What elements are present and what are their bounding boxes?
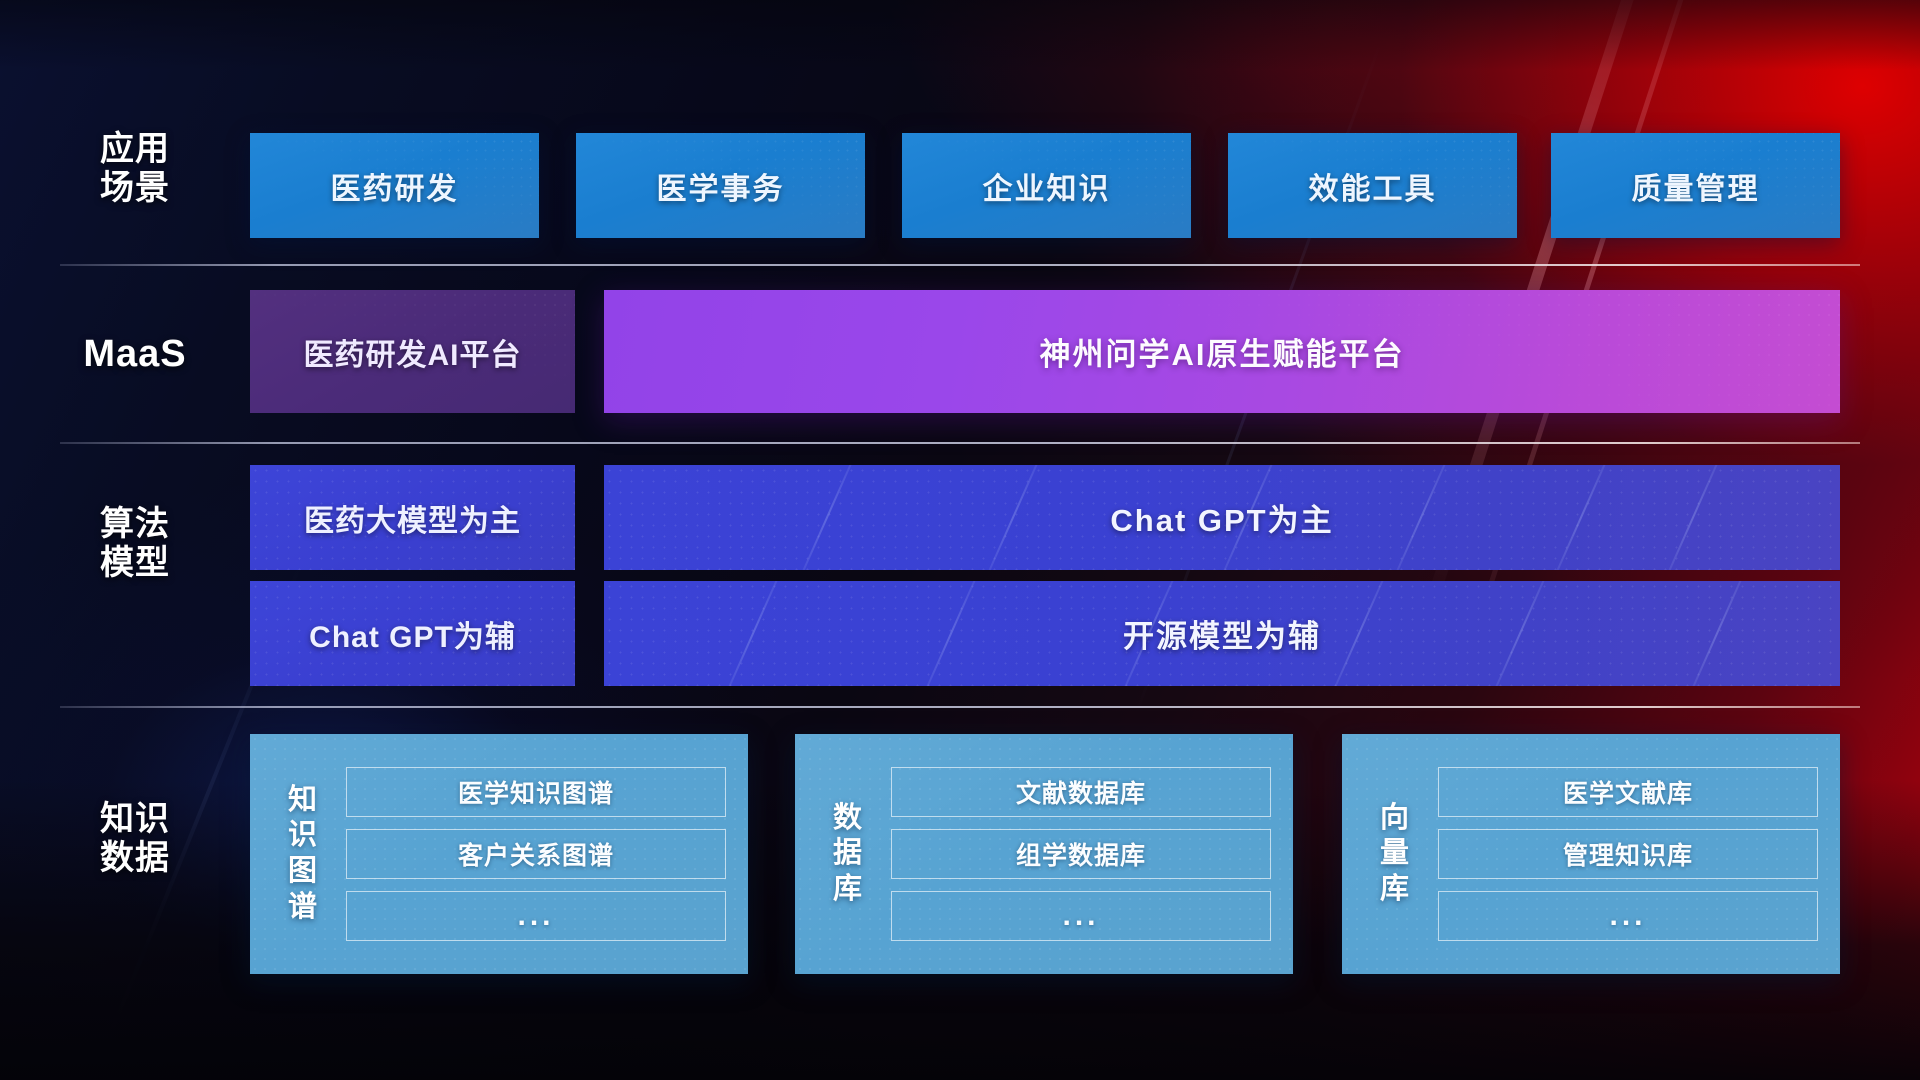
row-label-line: 数据 xyxy=(60,839,210,878)
knowledge-item[interactable]: 医学知识图谱 xyxy=(346,767,726,817)
maas-platform-box-drug-rd[interactable]: 医药研发AI平台 xyxy=(250,290,575,413)
row-label-line: 场景 xyxy=(60,169,210,208)
algo-box-line2-right[interactable]: 开源模型为辅 xyxy=(604,581,1840,686)
knowledge-card-vertical-label: 知识图谱 xyxy=(266,783,340,926)
row-label-maas: MaaS xyxy=(60,332,210,376)
knowledge-card-vector-store[interactable]: 向量库 医学文献库 管理知识库 ... xyxy=(1342,734,1840,974)
app-scenario-box-3[interactable]: 企业知识 xyxy=(902,133,1191,238)
knowledge-item-more[interactable]: ... xyxy=(891,891,1271,941)
app-scenario-box-1[interactable]: 医药研发 xyxy=(250,133,539,238)
app-scenario-label: 医药研发 xyxy=(331,164,459,208)
row-label-knowledge-data: 知识 数据 xyxy=(60,800,210,879)
divider-1 xyxy=(60,264,1860,266)
row-label-line: 知识 xyxy=(60,800,210,839)
knowledge-card-items: 文献数据库 组学数据库 ... xyxy=(885,767,1293,941)
algo-label: 医药大模型为主 xyxy=(304,496,521,540)
knowledge-item[interactable]: 客户关系图谱 xyxy=(346,829,726,879)
row-label-line: MaaS xyxy=(60,332,210,376)
knowledge-item-more[interactable]: ... xyxy=(346,891,726,941)
knowledge-item[interactable]: 管理知识库 xyxy=(1438,829,1818,879)
algo-label: Chat GPT为辅 xyxy=(309,612,516,656)
app-scenario-box-5[interactable]: 质量管理 xyxy=(1551,133,1840,238)
app-scenario-label: 效能工具 xyxy=(1309,164,1437,208)
algo-label: Chat GPT为主 xyxy=(1110,495,1333,540)
row-label-line: 模型 xyxy=(60,544,210,583)
row-label-algorithm-models: 算法 模型 xyxy=(60,505,210,584)
knowledge-card-items: 医学文献库 管理知识库 ... xyxy=(1432,767,1840,941)
architecture-diagram: 应用 场景 医药研发 医学事务 企业知识 效能工具 质量管理 MaaS 医药研发… xyxy=(0,0,1920,1080)
algo-label: 开源模型为辅 xyxy=(1123,611,1321,656)
knowledge-card-vertical-label: 数据库 xyxy=(811,801,885,908)
app-scenario-label: 医学事务 xyxy=(657,164,785,208)
app-scenario-label: 质量管理 xyxy=(1632,164,1760,208)
knowledge-item[interactable]: 文献数据库 xyxy=(891,767,1271,817)
maas-left-label: 医药研发AI平台 xyxy=(304,330,522,374)
knowledge-item-more[interactable]: ... xyxy=(1438,891,1818,941)
app-scenario-label: 企业知识 xyxy=(983,164,1111,208)
app-scenario-box-4[interactable]: 效能工具 xyxy=(1228,133,1517,238)
maas-right-label: 神州问学AI原生赋能平台 xyxy=(1040,329,1405,374)
algo-box-line1-left[interactable]: 医药大模型为主 xyxy=(250,465,575,570)
knowledge-item[interactable]: 医学文献库 xyxy=(1438,767,1818,817)
knowledge-item[interactable]: 组学数据库 xyxy=(891,829,1271,879)
divider-2 xyxy=(60,442,1860,444)
divider-3 xyxy=(60,706,1860,708)
algo-box-line2-left[interactable]: Chat GPT为辅 xyxy=(250,581,575,686)
knowledge-card-knowledge-graph[interactable]: 知识图谱 医学知识图谱 客户关系图谱 ... xyxy=(250,734,748,974)
knowledge-card-items: 医学知识图谱 客户关系图谱 ... xyxy=(340,767,748,941)
algo-box-line1-right[interactable]: Chat GPT为主 xyxy=(604,465,1840,570)
app-scenario-box-2[interactable]: 医学事务 xyxy=(576,133,865,238)
maas-platform-box-shenzhou[interactable]: 神州问学AI原生赋能平台 xyxy=(604,290,1840,413)
knowledge-card-database[interactable]: 数据库 文献数据库 组学数据库 ... xyxy=(795,734,1293,974)
row-label-application-scenarios: 应用 场景 xyxy=(60,130,210,209)
row-label-line: 算法 xyxy=(60,505,210,544)
knowledge-card-vertical-label: 向量库 xyxy=(1358,801,1432,908)
row-label-line: 应用 xyxy=(60,130,210,169)
